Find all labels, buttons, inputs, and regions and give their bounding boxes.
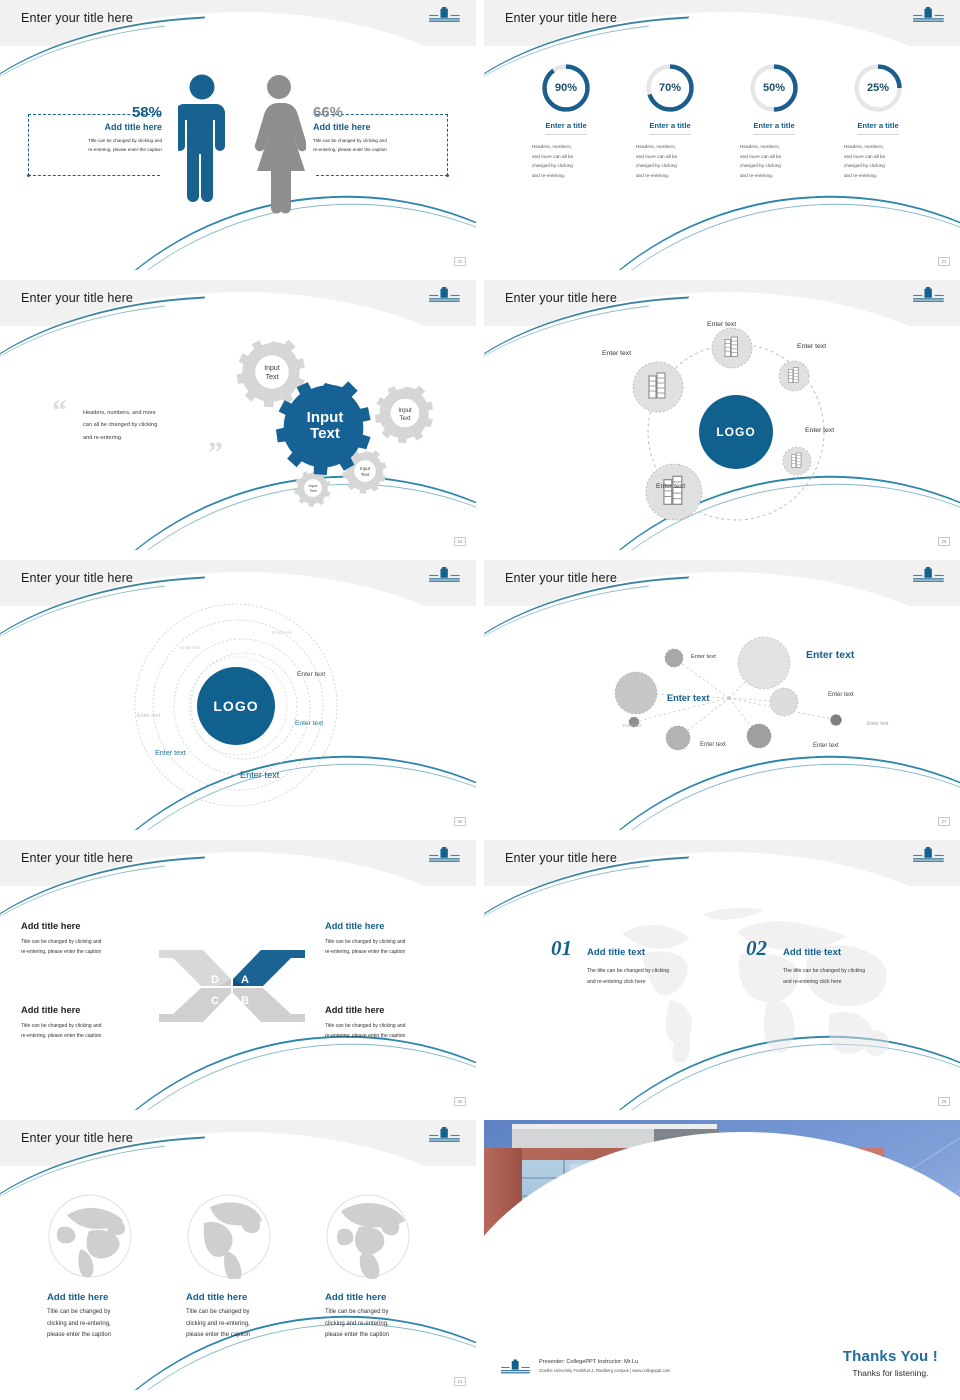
globe-icon-asia <box>47 1193 133 1279</box>
goethe-university-logo <box>912 287 946 304</box>
goethe-university-logo <box>428 847 462 864</box>
presenter-line: Presenter: CollegePPT Instructor: Mr.Lu <box>539 1359 670 1365</box>
thanks-subheading: Thanks for listening. <box>843 1368 938 1378</box>
desc-line: and re-entering. <box>844 171 924 181</box>
thanks-block: Thanks You ! Thanks for listening. <box>843 1348 938 1378</box>
page-title: Enter your title here <box>21 851 133 865</box>
slide-body: Add title here Title can be changed by c… <box>0 1120 476 1390</box>
network-label-7: Enter text <box>867 721 888 727</box>
svg-text:Text: Text <box>361 472 370 477</box>
quadrant-line-2: re-entering, please enter the caption <box>325 1031 475 1041</box>
ring-label-7: Enter text <box>240 770 279 780</box>
donut-chart-25: 25% <box>852 62 904 114</box>
donut-title-4: Enter a title <box>857 121 898 135</box>
quadrant-line-1: Title can be changed by clicking and <box>21 937 171 947</box>
donut-item[interactable]: 90% Enter a title Headers, numbers, and … <box>520 62 612 181</box>
quadrant-line-1: Title can be changed by clicking and <box>325 1021 475 1031</box>
quadrant-line-2: re-entering, please enter the caption <box>21 947 171 957</box>
desc-line: changed by clicking <box>532 161 612 171</box>
network-node-xl <box>738 637 790 689</box>
slide-body: 58% Add title here Title can be changed … <box>0 0 476 270</box>
left-percent-value: 58% <box>44 104 162 121</box>
slide-body: Add title here Title can be changed by c… <box>0 840 476 1110</box>
page-number: 22 <box>454 257 466 266</box>
ring-label-6: Enter text <box>155 748 186 757</box>
globe-line-2: clicking and re-entering, <box>186 1319 326 1331</box>
donut-value-70: 70% <box>644 62 696 114</box>
orbit-node-left <box>633 362 683 412</box>
globe-line-2: clicking and re-entering, <box>325 1319 465 1331</box>
goethe-university-logo <box>912 847 946 864</box>
network-node-xs-2 <box>831 715 842 726</box>
letter-A: A <box>241 974 249 986</box>
globe-line-3: please enter the caption <box>325 1330 465 1342</box>
right-heading: Add title here <box>313 122 447 132</box>
ring-label-1: Enter text <box>272 630 292 635</box>
donut-title-3: Enter a title <box>753 121 794 135</box>
letter-B: B <box>241 995 249 1007</box>
svg-text:Input: Input <box>360 466 371 471</box>
slide-thumbnail-x-quadrant[interactable]: Enter your title here 28 Add title here … <box>0 840 476 1110</box>
ring-label-4: Enter text <box>297 671 325 678</box>
globe-block-3: Add title here Title can be changed by c… <box>325 1292 465 1342</box>
quadrant-heading: Add title here <box>21 921 171 931</box>
page-title: Enter your title here <box>505 851 617 865</box>
gear-cluster-graphic: Input Text Input Text Input Text <box>215 328 465 523</box>
svg-text:Text: Text <box>399 416 410 422</box>
left-caption-line-2: re-entering, please enter the caption <box>44 145 162 154</box>
page-number: 25 <box>938 537 950 546</box>
svg-text:Text: Text <box>309 488 317 493</box>
thanks-heading: Thanks You ! <box>843 1348 938 1365</box>
page-title: Enter your title here <box>21 11 133 25</box>
page-title: Enter your title here <box>505 291 617 305</box>
donut-description-4: Headers, numbers, and more can all be ch… <box>832 142 924 181</box>
donut-chart-row: 90% Enter a title Headers, numbers, and … <box>520 62 924 181</box>
quadrant-text-top-right: Add title here Title can be changed by c… <box>325 921 475 958</box>
donut-description-3: Headers, numbers, and more can all be ch… <box>728 142 820 181</box>
page-number: 29 <box>938 1097 950 1106</box>
left-caption-line-1: Title can be changed by clicking and <box>44 136 162 145</box>
donut-title-2: Enter a title <box>649 121 690 135</box>
donut-description-2: Headers, numbers, and more can all be ch… <box>624 142 716 181</box>
campus-line: Goethe University Frankfurt ̵1; Riedberg… <box>539 1368 670 1373</box>
right-percent-value: 66% <box>313 104 447 121</box>
slide-body: 90% Enter a title Headers, numbers, and … <box>484 0 960 270</box>
slide-body: Enter text Enter text Enter text Enter t… <box>484 560 960 830</box>
network-label-8: Enter text <box>623 723 641 728</box>
orbit-label-lower-right: Enter text <box>805 427 834 434</box>
svg-text:Input: Input <box>264 365 280 372</box>
step-number-01: 01 <box>551 936 572 960</box>
svg-text:Input: Input <box>398 408 412 414</box>
network-label-4: Enter text <box>828 692 854 698</box>
final-footer-credits: Presenter: CollegePPT Instructor: Mr.Lu … <box>500 1359 670 1376</box>
quadrant-heading: Add title here <box>325 1005 475 1015</box>
network-label-5: Enter text <box>700 742 726 748</box>
globe-block-2: Add title here Title can be changed by c… <box>186 1292 326 1342</box>
quadrant-line-1: Title can be changed by clicking and <box>325 937 475 947</box>
step-heading-01: Add title text <box>587 947 717 958</box>
quadrant-text-bottom-left: Add title here Title can be changed by c… <box>21 1005 171 1042</box>
ring-label-3: Enter text <box>137 713 160 719</box>
page-title: Enter your title here <box>505 571 617 585</box>
network-node-md-3 <box>666 726 690 750</box>
quadrant-text-bottom-right: Add title here Title can be changed by c… <box>325 1005 475 1042</box>
donut-value-90: 90% <box>540 62 592 114</box>
orbit-node-upper-right <box>779 361 809 391</box>
globe-heading-3: Add title here <box>325 1292 465 1303</box>
svg-text:Text: Text <box>310 425 340 442</box>
step-line-2: and re-entering click here <box>587 977 717 988</box>
step-line-2: and re-entering click here <box>783 977 913 988</box>
right-bracket-dot <box>446 174 449 177</box>
globe-heading-2: Add title here <box>186 1292 326 1303</box>
step-01-block: 01 <box>551 936 572 961</box>
male-figure-icon <box>178 74 226 214</box>
page-number: 26 <box>454 817 466 826</box>
donut-description-1: Headers, numbers, and more can all be ch… <box>520 142 612 181</box>
desc-line: Headers, numbers, <box>532 142 612 152</box>
step-number-02: 02 <box>746 936 767 960</box>
segment-C <box>159 988 231 1022</box>
page-number: 28 <box>454 1097 466 1106</box>
step-01-text: Add title text The title can be changed … <box>587 947 717 987</box>
letter-D: D <box>211 974 219 986</box>
quote-line-3: and re-entering. <box>83 432 215 444</box>
orbit-node-lower-right <box>783 447 811 475</box>
quadrant-line-1: Title can be changed by clicking and <box>21 1021 171 1031</box>
step-02-block: 02 <box>746 936 767 961</box>
page-number: 13 <box>454 1377 466 1386</box>
desc-line: and re-entering. <box>532 171 612 181</box>
network-node-md-2 <box>770 688 798 716</box>
desc-line: changed by clicking <box>740 161 820 171</box>
desc-line: changed by clicking <box>844 161 924 171</box>
page-title: Enter your title here <box>21 1131 133 1145</box>
slide-thumbnail-network-nodes[interactable]: Enter your title here 27 <box>484 560 960 830</box>
globe-icon-americas <box>186 1193 272 1279</box>
gear-quote-text: Headers, numbers, and more can all be ch… <box>83 407 215 444</box>
quote-open-icon: “ <box>52 396 67 426</box>
globe-heading-1: Add title here <box>47 1292 187 1303</box>
globe-line-3: please enter the caption <box>47 1330 187 1342</box>
slide-thumbnail-gears[interactable]: Enter your title here 24 “ ” Headers, nu… <box>0 280 476 550</box>
right-caption-line-1: Title can be changed by clicking and <box>313 136 447 145</box>
page-number: 23 <box>938 257 950 266</box>
orbit-node-top <box>712 328 752 368</box>
left-bracket-dot <box>27 174 30 177</box>
network-label-secondary: Enter text <box>667 693 709 703</box>
gear-secondary-right <box>375 385 433 443</box>
left-stat-block: 58% Add title here Title can be changed … <box>44 104 162 154</box>
right-caption-line-2: re-entering, please enter the caption <box>313 145 447 154</box>
segment-D <box>159 950 231 986</box>
slide-thumbnail-three-globes[interactable]: Enter your title here 13 <box>0 1120 476 1390</box>
donut-item[interactable]: 25% Enter a title Headers, numbers, and … <box>832 62 924 181</box>
goethe-university-logo <box>428 567 462 584</box>
step-heading-02: Add title text <box>783 947 913 958</box>
donut-chart-50: 50% <box>748 62 800 114</box>
goethe-university-logo <box>428 287 462 304</box>
globe-block-1: Add title here Title can be changed by c… <box>47 1292 187 1342</box>
svg-text:LOGO: LOGO <box>213 698 258 714</box>
quadrant-text-top-left: Add title here Title can be changed by c… <box>21 921 171 958</box>
x-arrow-graphic: D A C B <box>157 942 307 1030</box>
goethe-university-logo <box>912 567 946 584</box>
quote-line-2: can all be changed by clicking <box>83 419 215 431</box>
donut-chart-90: 90% <box>540 62 592 114</box>
quadrant-heading: Add title here <box>21 1005 171 1015</box>
letter-C: C <box>211 995 219 1007</box>
svg-text:Text: Text <box>266 374 279 381</box>
donut-title-1: Enter a title <box>545 121 586 135</box>
desc-line: and more can all be <box>532 152 612 162</box>
network-label-6: Enter text <box>813 743 839 749</box>
globe-line-1: Title can be changed by <box>47 1307 187 1319</box>
page-number: 24 <box>454 537 466 546</box>
slide-thumbnail-concentric-rings[interactable]: Enter your title here 26 LOGO Enter text… <box>0 560 476 830</box>
orbit-label-left: Enter text <box>602 350 631 357</box>
right-stat-block: 66% Add title here Title can be changed … <box>313 104 447 154</box>
step-02-text: Add title text The title can be changed … <box>783 947 913 987</box>
page-title: Enter your title here <box>21 291 133 305</box>
desc-line: and more can all be <box>740 152 820 162</box>
svg-text:Input: Input <box>307 409 344 426</box>
quadrant-heading: Add title here <box>325 921 475 931</box>
desc-line: Headers, numbers, <box>740 142 820 152</box>
network-node-md-4 <box>747 724 771 748</box>
globe-icon-europe-africa <box>325 1193 411 1279</box>
goethe-university-logo <box>428 1127 462 1144</box>
network-label-primary: Enter text <box>806 649 854 661</box>
slide-deck-grid: Enter your title here 22 <box>0 0 960 1400</box>
quadrant-line-2: re-entering, please enter the caption <box>21 1031 171 1041</box>
desc-line: Headers, numbers, <box>636 142 716 152</box>
slide-body: LOGO Enter text Enter text Enter text En… <box>0 560 476 830</box>
female-figure-icon <box>252 74 306 214</box>
ring-label-5: Enter text <box>295 720 323 727</box>
ring-label-2: Enter text <box>180 645 200 650</box>
goethe-university-logo <box>428 7 462 24</box>
svg-text:LOGO: LOGO <box>716 425 755 439</box>
slide-thumbnail-gender-percent[interactable]: Enter your title here 22 <box>0 0 476 270</box>
slide-thumbnail-donut-percentages[interactable]: Enter your title here 23 90% Enter a tit… <box>484 0 960 270</box>
donut-item[interactable]: 70% Enter a title Headers, numbers, and … <box>624 62 716 181</box>
quadrant-line-2: re-entering, please enter the caption <box>325 947 475 957</box>
slide-body: 01 Add title text The title can be chang… <box>484 840 960 1110</box>
donut-chart-70: 70% <box>644 62 696 114</box>
network-label-3: Enter text <box>691 654 716 660</box>
slide-body: “ ” Headers, numbers, and more can all b… <box>0 280 476 550</box>
desc-line: and more can all be <box>636 152 716 162</box>
donut-value-50: 50% <box>748 62 800 114</box>
goethe-university-logo <box>500 1359 532 1376</box>
page-title: Enter your title here <box>505 11 617 25</box>
page-title: Enter your title here <box>21 571 133 585</box>
quote-line-1: Headers, numbers, and more <box>83 407 215 419</box>
network-node-md-1 <box>665 649 683 667</box>
orbit-label-top: Enter text <box>707 321 736 328</box>
concentric-rings-graphic: LOGO <box>130 600 350 820</box>
globe-line-2: clicking and re-entering, <box>47 1319 187 1331</box>
orbit-label-bottom: Enter text <box>656 483 685 490</box>
goethe-university-logo <box>912 7 946 24</box>
desc-line: and re-entering. <box>740 171 820 181</box>
globe-line-1: Title can be changed by <box>325 1307 465 1319</box>
network-node-lg <box>615 672 657 714</box>
orbit-node-bottom <box>646 464 702 520</box>
step-line-1: The title can be changed by clicking <box>783 966 913 977</box>
slide-thumbnail-two-steps-map[interactable]: Enter your title here 29 <box>484 840 960 1110</box>
slide-thumbnail-orbit-buildings[interactable]: Enter your title here 25 <box>484 280 960 550</box>
donut-value-25: 25% <box>852 62 904 114</box>
left-heading: Add title here <box>44 122 162 132</box>
slide-thumbnail-thanks[interactable]: Presenter: CollegePPT Instructor: Mr.Lu … <box>484 1120 960 1400</box>
page-number: 27 <box>938 817 950 826</box>
orbit-label-upper-right: Enter text <box>797 343 826 350</box>
globe-line-3: please enter the caption <box>186 1330 326 1342</box>
globe-line-1: Title can be changed by <box>186 1307 326 1319</box>
desc-line: and more can all be <box>844 152 924 162</box>
donut-item[interactable]: 50% Enter a title Headers, numbers, and … <box>728 62 820 181</box>
desc-line: and re-entering. <box>636 171 716 181</box>
slide-body: LOGO Enter text Enter text Enter text En… <box>484 280 960 550</box>
desc-line: changed by clicking <box>636 161 716 171</box>
step-line-1: The title can be changed by clicking <box>587 966 717 977</box>
desc-line: Headers, numbers, <box>844 142 924 152</box>
